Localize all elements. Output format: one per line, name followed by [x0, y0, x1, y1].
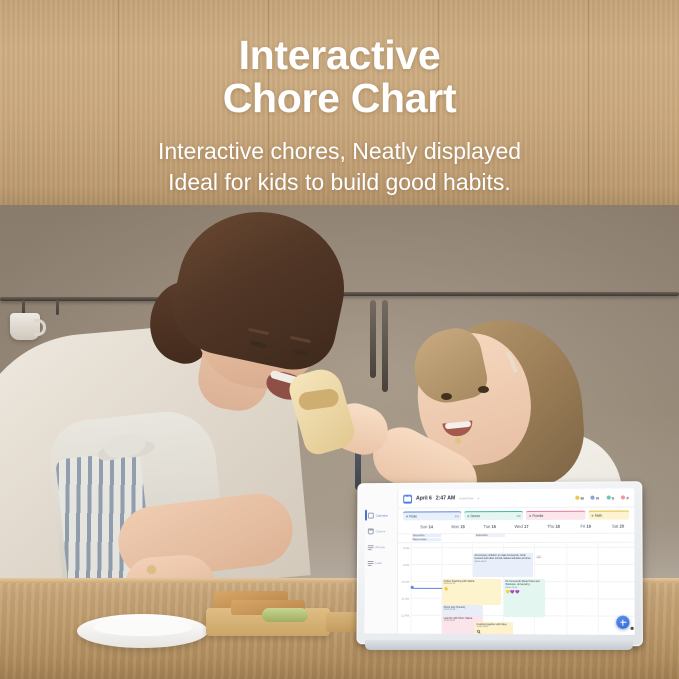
app-main: April 6 2:47 AM Asia/Dubai ▾ M R: [398, 488, 635, 635]
bag-icon: [368, 528, 374, 534]
plus-icon: [620, 619, 626, 625]
member-avatar[interactable]: R: [591, 495, 599, 500]
current-time-dot: [411, 586, 414, 589]
member-initial: M: [580, 495, 583, 500]
time-label: 10 AM: [401, 579, 409, 583]
woman-ring: [148, 566, 155, 573]
all-day-event[interactable]: Piano Lesson: [412, 538, 441, 541]
event-emoji: 👋: [444, 587, 500, 592]
all-day-cell[interactable]: [538, 533, 570, 541]
tablet-device: Calendar Chores Photos Lists: [355, 482, 645, 652]
kitchen-rail: [0, 297, 170, 301]
day-number: 14: [429, 524, 434, 529]
calendar-event[interactable]: Accompany children to make homework, boo…: [473, 552, 533, 576]
day-column-header[interactable]: Wed 17: [506, 521, 538, 532]
current-time: 2:47 AM: [436, 495, 455, 501]
day-name: Tue: [483, 524, 490, 529]
sidebar-item-photos[interactable]: Photos: [365, 540, 397, 553]
tablet-stand: [365, 640, 633, 650]
event-emoji-badge: 📖: [535, 553, 543, 561]
chore-chip[interactable]: Math: [588, 511, 629, 520]
event-emoji: 💛💜💜: [505, 590, 543, 595]
chip-label: Math: [595, 513, 602, 517]
rail-hook: [56, 300, 59, 315]
calendar-event[interactable]: Do homework (Read Tarot and Windows, do …: [504, 579, 545, 617]
day-column-header[interactable]: Thu 18: [538, 521, 570, 532]
day-header-row: Sun 14 Mon 15 Tue 16 Wed 17 Thu 18 Fri 1…: [398, 521, 634, 534]
all-day-row: School Run Piano Lesson School Run: [398, 533, 634, 543]
member-avatar[interactable]: S: [606, 495, 614, 500]
member-color-dot: [621, 495, 625, 499]
app-sidebar: Calendar Chores Photos Lists: [364, 490, 398, 634]
member-avatar[interactable]: M: [575, 495, 584, 500]
event-title: Do homework (Read Tarot and Windows, do …: [505, 580, 543, 586]
hanging-utensil: [382, 300, 388, 392]
time-label: 9 AM: [403, 563, 409, 567]
day-column-header[interactable]: Sun 14: [411, 522, 442, 533]
event-emoji: 📖: [537, 555, 542, 560]
event-time: 09:00-12:00: [505, 587, 543, 590]
day-number: 18: [555, 524, 560, 529]
chip-label: Dinner: [471, 514, 481, 518]
marketing-headline: Interactive Chore Chart Interactive chor…: [0, 34, 679, 197]
tablet-indicator-light: [631, 627, 634, 630]
list-icon: [368, 560, 374, 566]
time-axis: 8 AM 9 AM 10 AM 11 AM 12 PM: [398, 543, 411, 634]
photos-icon: [368, 544, 374, 550]
day-column-header[interactable]: Tue 16: [474, 522, 506, 533]
girl-eye: [478, 386, 489, 393]
girl-earring: [455, 438, 461, 444]
member-color-dot: [591, 496, 595, 500]
headline-line-2: Chore Chart: [0, 77, 679, 120]
sidebar-item-chores[interactable]: Chores: [365, 524, 397, 537]
chip-count: 1/3: [516, 514, 520, 518]
chip-bullet-icon: [529, 515, 531, 517]
chevron-down-icon[interactable]: ▾: [478, 496, 480, 500]
tablet-bezel: Calendar Chores Photos Lists: [356, 481, 642, 646]
member-initial: R: [596, 495, 599, 500]
sidebar-item-calendar[interactable]: Calendar: [365, 509, 397, 522]
app-topbar: April 6 2:47 AM Asia/Dubai ▾ M R: [398, 488, 634, 508]
sidebar-item-label: Lists: [375, 561, 381, 565]
tablet-screen: Calendar Chores Photos Lists: [364, 488, 634, 635]
all-day-event[interactable]: School Run: [412, 534, 441, 537]
day-number: 15: [460, 524, 465, 529]
all-day-cell[interactable]: [506, 533, 538, 541]
time-label: 12 PM: [401, 613, 409, 617]
subtitle-line-2: Ideal for kids to build good habits.: [0, 167, 679, 198]
calendar-icon: [368, 512, 374, 518]
sidebar-item-label: Photos: [376, 545, 385, 549]
all-day-event[interactable]: School Run: [475, 534, 505, 537]
day-column-header[interactable]: Sat 20: [602, 521, 634, 532]
day-name: Thu: [547, 524, 554, 529]
time-label: 11 AM: [402, 596, 410, 600]
lettuce: [262, 608, 308, 622]
event-time: 09:00-11:00: [444, 583, 500, 586]
day-number: 17: [524, 524, 529, 529]
kitchen-rail: [338, 292, 679, 296]
chore-chip[interactable]: Dinner 1/3: [464, 511, 523, 520]
event-time: 10:00-10:30: [444, 609, 482, 612]
girl-eye: [441, 393, 452, 400]
event-time: 08:00-10:00: [475, 561, 532, 564]
day-number: 20: [619, 524, 624, 529]
chip-label: Fiorella: [532, 514, 543, 518]
chip-bullet-icon: [406, 515, 408, 517]
day-name: Wed: [515, 524, 523, 529]
plate: [77, 614, 208, 648]
chore-chip-row: Rose 1/3 Dinner 1/3 Fiorella: [398, 507, 634, 521]
day-name: Mon: [451, 524, 459, 529]
calendar-time-grid[interactable]: 8 AM 9 AM 10 AM 11 AM 12 PM: [398, 542, 635, 635]
chip-label: Rose: [409, 514, 417, 518]
event-time: 11:00-12:00: [476, 626, 511, 629]
time-label: 8 AM: [403, 546, 409, 550]
timezone-label[interactable]: Asia/Dubai: [459, 496, 473, 500]
subtitle-line-1: Interactive chores, Neatly displayed: [0, 136, 679, 167]
chore-chip[interactable]: Fiorella: [526, 511, 585, 520]
sidebar-item-member[interactable]: Member: [364, 633, 396, 635]
all-day-cell[interactable]: [570, 533, 602, 541]
day-name: Sat: [612, 524, 618, 529]
all-day-cell[interactable]: [442, 534, 474, 542]
chore-chip[interactable]: Rose 1/3: [403, 511, 461, 520]
all-day-cell[interactable]: School Run Piano Lesson: [411, 534, 442, 542]
day-name: Fri: [580, 524, 585, 529]
member-color-dot: [575, 496, 579, 500]
all-day-cell[interactable]: School Run: [474, 534, 506, 542]
event-emoji: 🍳: [476, 630, 511, 635]
hanging-utensil: [370, 300, 376, 378]
sidebar-item-lists[interactable]: Lists: [365, 556, 397, 569]
calendar-event[interactable]: Movie day (Sunset) 10:00-10:30: [442, 604, 483, 615]
day-number: 19: [586, 524, 591, 529]
calendar-app-icon: [403, 494, 412, 503]
member-avatar[interactable]: F: [621, 495, 629, 500]
current-date: April 6: [416, 496, 432, 502]
chip-bullet-icon: [467, 515, 469, 517]
member-initial: S: [611, 495, 614, 500]
day-number: 16: [491, 524, 496, 529]
sidebar-item-label: Chores: [376, 529, 386, 533]
headline-line-1: Interactive: [0, 34, 679, 77]
calendar-event[interactable]: Cooking together with Mum 11:00-12:00 🍳: [475, 621, 513, 635]
day-column-header[interactable]: Fri 19: [570, 521, 602, 532]
event-title: Online Teaching with Sasha: [444, 580, 500, 583]
hanging-mug: [10, 313, 40, 340]
day-column-header[interactable]: Mon 15: [442, 522, 474, 533]
member-color-dot: [606, 496, 610, 500]
calendar-event[interactable]: Online Teaching with Sasha 09:00-11:00 👋: [442, 578, 501, 604]
add-event-button[interactable]: [616, 616, 629, 629]
all-day-cell[interactable]: [602, 533, 634, 541]
day-name: Sun: [420, 524, 427, 529]
chip-bullet-icon: [591, 514, 593, 516]
chip-count: 1/3: [455, 514, 459, 518]
member-initial: F: [627, 495, 630, 500]
chore-chart-app: Calendar Chores Photos Lists: [364, 488, 634, 635]
event-title: Accompany children to make homework, boo…: [475, 554, 532, 560]
current-time-indicator: [412, 587, 444, 588]
sidebar-item-label: Calendar: [376, 513, 388, 517]
